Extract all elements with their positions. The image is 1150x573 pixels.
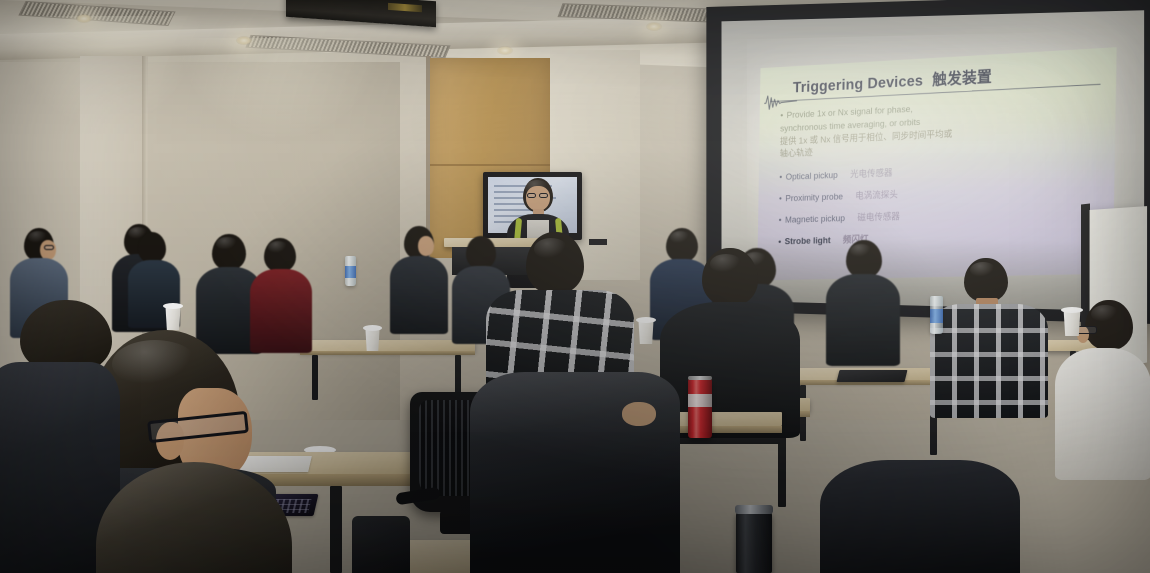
attendee-body (470, 372, 680, 573)
bullet-marker: • (779, 173, 782, 183)
paper-cup-rim (636, 317, 656, 323)
bullet-marker: • (779, 216, 782, 226)
attendee-body (826, 274, 900, 366)
attendee-body (1055, 348, 1150, 480)
slide-bullet-proximity-probe: •Proximity probe电涡流探头 (779, 180, 1101, 205)
bullet-label-cn: 电涡流探头 (855, 190, 898, 202)
hair-sheen (216, 237, 238, 251)
paper-cup (637, 320, 655, 344)
recessed-downlight (646, 22, 662, 31)
desk-edge (300, 351, 475, 355)
hair-sheen (710, 254, 742, 274)
recessed-downlight (236, 36, 252, 45)
attendee-far-10 (826, 240, 900, 366)
attendee-foreground-right (820, 460, 1020, 573)
classroom-photo: Triggering Devices触发装置 •Provide 1x or Nx… (0, 0, 1150, 573)
bottle-label (930, 309, 943, 323)
hair-sheen (112, 340, 198, 388)
attendee-hand (622, 402, 656, 426)
presenter-glasses-left (527, 193, 536, 198)
bullet-marker: • (780, 111, 783, 121)
paper-cup-rim (163, 303, 183, 309)
attendee-sweater (930, 304, 1048, 418)
attendee-checked-sweater (930, 258, 1048, 418)
attendee-foreground-grey (96, 462, 292, 573)
hair-sheen (534, 238, 568, 260)
desk-row-far-left (300, 340, 475, 351)
attendee-black-jacket-right (660, 248, 800, 438)
attendee-head (96, 462, 292, 573)
light-wash (180, 38, 380, 138)
door-seam (430, 164, 550, 166)
attendee-body (390, 256, 448, 334)
attendee-body (820, 460, 1020, 573)
hair-sheen (970, 262, 996, 278)
slide-bullet-magnetic-pickup: •Magnetic pickup磁电传感器 (779, 203, 1101, 226)
hair-sheen (850, 244, 872, 258)
attendee-foreground-center-back (470, 372, 680, 573)
paper-cup (1062, 310, 1082, 336)
bullet-label: Magnetic pickup (785, 214, 845, 226)
presenter-face (526, 186, 550, 211)
thermos-cap (735, 505, 773, 514)
paper-cup-rim (363, 325, 382, 331)
bag-on-floor (352, 516, 410, 573)
attendee-face (40, 240, 56, 260)
bullet-marker: • (779, 194, 782, 204)
notebook (837, 370, 908, 382)
water-bottle (345, 256, 356, 286)
slide-title: Triggering Devices触发装置 (793, 63, 992, 97)
slide-bullet-optical-pickup: •Optical pickup光电传感器 (779, 157, 1101, 183)
slide-title-english: Triggering Devices (793, 73, 923, 96)
recessed-downlight (76, 14, 92, 23)
bullet-label-cn: 光电传感器 (850, 168, 893, 180)
paper-cup (364, 328, 381, 351)
soda-can-band (688, 394, 712, 407)
hair-sheen (1091, 305, 1119, 323)
hair-sheen (268, 241, 288, 254)
attendee-head (138, 232, 166, 263)
projector-glint (388, 3, 422, 12)
bullet-label: Optical pickup (786, 170, 838, 182)
slide-body: •Provide 1x or Nx signal for phase, sync… (778, 94, 1102, 248)
paper-cup-rim (1061, 307, 1083, 313)
attendee-glasses (44, 245, 54, 250)
slide-main-bullet: •Provide 1x or Nx signal for phase, sync… (780, 94, 1103, 162)
desk-leg (330, 486, 342, 573)
bullet-label: Proximity probe (785, 192, 843, 204)
bullet-label-cn: 磁电传感器 (857, 212, 900, 224)
slide-title-chinese: 触发装置 (932, 69, 992, 89)
bottle-label (345, 266, 356, 277)
hair-sheen (670, 231, 690, 244)
paper-cup (164, 306, 182, 330)
soda-can (688, 378, 712, 438)
recessed-downlight (497, 46, 513, 55)
thermos-flask (736, 512, 772, 573)
soda-can-top (688, 376, 712, 380)
desk-leg (312, 355, 318, 400)
attendee-far-6 (390, 226, 448, 334)
presenter-glasses-right (539, 193, 548, 198)
attendee-face (418, 236, 434, 256)
water-bottle (930, 296, 943, 334)
